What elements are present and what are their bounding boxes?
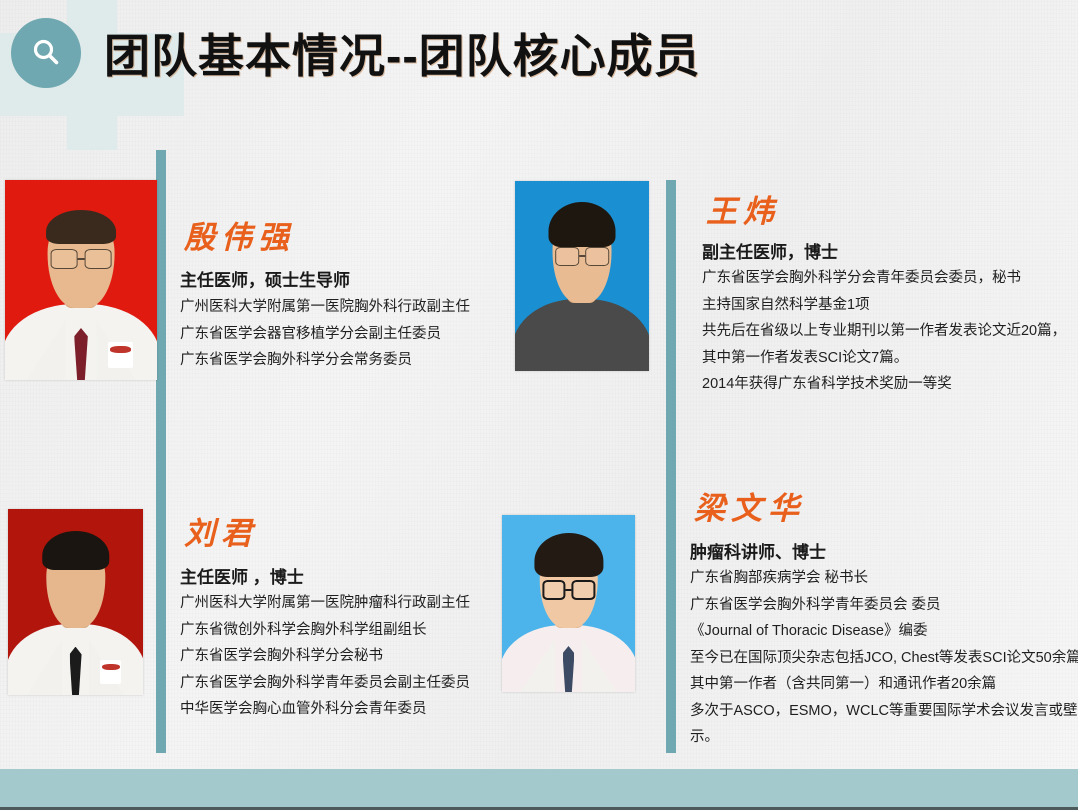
person-credentials-4: 广东省胸部疾病学会 秘书长 广东省医学会胸外科学青年委员会 委员 《Journa… bbox=[690, 565, 1078, 751]
credential-line: 广东省医学会胸外科学分会青年委员会委员，秘书 bbox=[702, 265, 1078, 292]
page-title: 团队基本情况--团队核心成员 bbox=[104, 20, 701, 86]
credential-line: 多次于ASCO，ESMO，WCLC等重要国际学术会议发言或壁报展 bbox=[690, 698, 1078, 725]
person-title-2: 副主任医师，博士 bbox=[702, 238, 838, 263]
person-photo-4 bbox=[502, 515, 635, 692]
person-photo-2 bbox=[515, 181, 649, 371]
person-title-4: 肿瘤科讲师、博士 bbox=[690, 538, 826, 563]
person-title-1: 主任医师，硕士生导师 bbox=[180, 266, 350, 291]
credential-line: 主持国家自然科学基金1项 bbox=[702, 292, 1078, 319]
person-name-2: 王炜 bbox=[706, 186, 780, 231]
credential-line: 广东省医学会胸外科学青年委员会 委员 bbox=[690, 592, 1078, 619]
credential-line: 其中第一作者发表SCI论文7篇。 bbox=[702, 345, 1078, 372]
credential-line: 共先后在省级以上专业期刊以第一作者发表论文近20篇， bbox=[702, 318, 1078, 345]
person-name-4: 梁文华 bbox=[694, 483, 805, 528]
credential-line: 至今已在国际顶尖杂志包括JCO, Chest等发表SCI论文50余篇， bbox=[690, 645, 1078, 672]
person-name-3: 刘君 bbox=[184, 508, 258, 553]
search-icon-button[interactable] bbox=[11, 18, 81, 88]
person-title-3: 主任医师 ，博士 bbox=[180, 563, 304, 588]
person-photo-3 bbox=[8, 509, 143, 695]
person-name-1: 殷伟强 bbox=[184, 212, 295, 257]
column-divider-right bbox=[666, 180, 676, 753]
slide-root: 团队基本情况--团队核心成员 殷伟强 主任医师，硕士生导师 广州医科大学附属第一… bbox=[0, 0, 1078, 810]
person-credentials-2: 广东省医学会胸外科学分会青年委员会委员，秘书 主持国家自然科学基金1项 共先后在… bbox=[702, 265, 1078, 398]
credential-line: 其中第一作者（含共同第一）和通讯作者20余篇 bbox=[690, 671, 1078, 698]
footer-bar bbox=[0, 769, 1078, 810]
credential-line: 2014年获得广东省科学技术奖励一等奖 bbox=[702, 371, 1078, 398]
credential-line: 示。 bbox=[690, 724, 1078, 751]
column-divider-left bbox=[156, 150, 166, 753]
credential-line: 广东省胸部疾病学会 秘书长 bbox=[690, 565, 1078, 592]
credential-line: 《Journal of Thoracic Disease》编委 bbox=[690, 618, 1078, 645]
search-icon bbox=[29, 36, 63, 70]
person-photo-1 bbox=[5, 180, 157, 380]
credential-line: 中华医学会胸心血管外科分会青年委员 bbox=[180, 696, 650, 723]
